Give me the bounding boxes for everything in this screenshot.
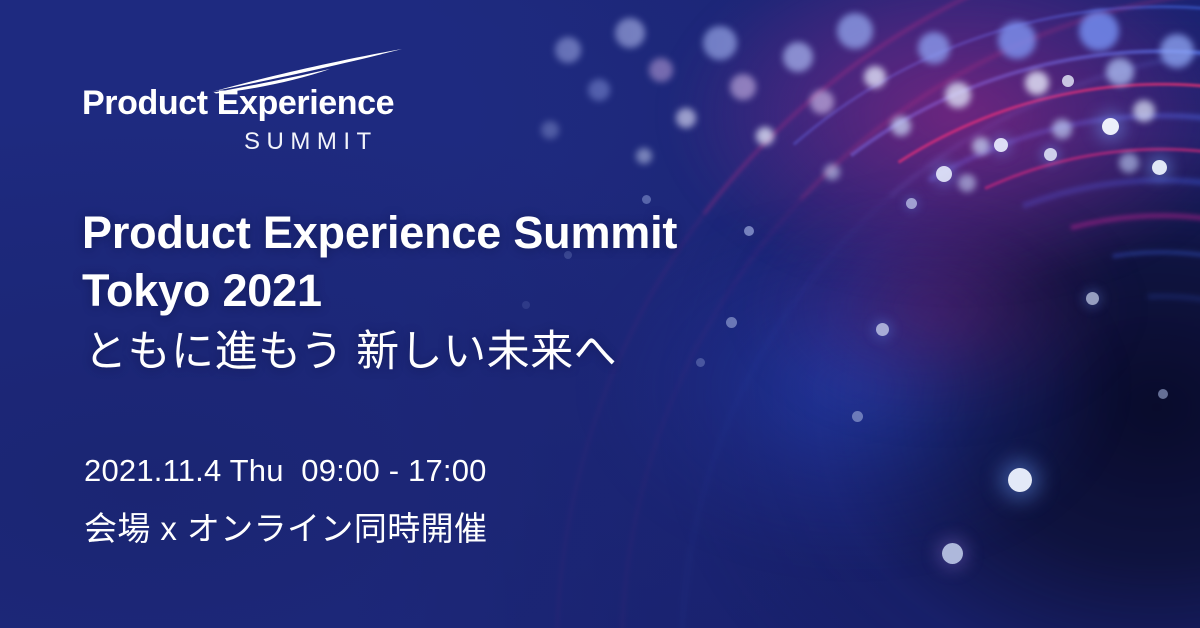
logo-wordmark: Product Experience (82, 86, 394, 120)
summit-logo: Product Experience SUMMIT (82, 48, 412, 166)
banner-content: Product Experience SUMMIT Product Experi… (0, 0, 1200, 628)
event-banner: Product Experience SUMMIT Product Experi… (0, 0, 1200, 628)
subheadline: ともに進もう 新しい未来へ (84, 327, 617, 379)
page-title: Product Experience Summit Tokyo 2021 (82, 204, 677, 319)
logo-subtitle: SUMMIT (244, 130, 378, 154)
event-date-time: 2021.11.4 Thu 09:00 - 17:00 (84, 455, 487, 486)
event-format: 会場 x オンライン同時開催 (84, 512, 487, 545)
